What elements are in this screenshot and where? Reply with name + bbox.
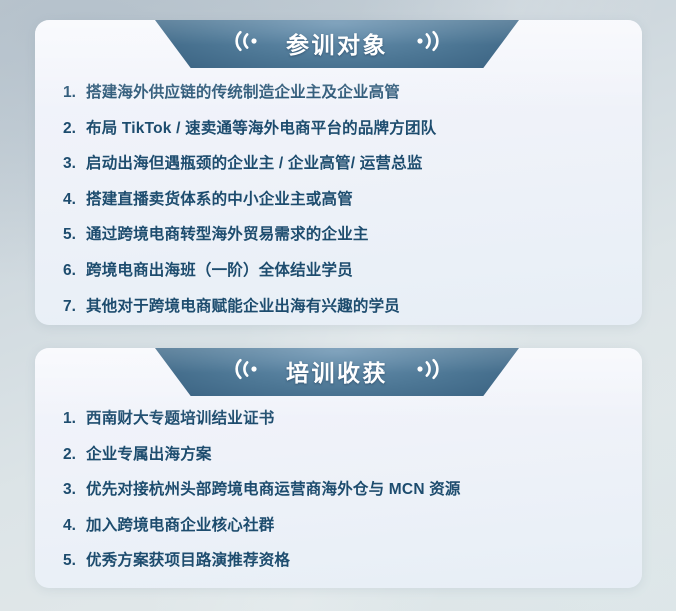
list-item-number: 1. (63, 84, 84, 103)
banner-participants: 参训对象 (35, 20, 642, 68)
card-title: 培训收获 (286, 354, 388, 388)
list-item-text: 搭建海外供应链的传统制造企业主及企业高管 (86, 84, 400, 103)
list-item: 5. 通过跨境电商转型海外贸易需求的企业主 (63, 226, 620, 245)
list-item: 3. 启动出海但遇瓶颈的企业主 / 企业高管/ 运营总监 (63, 155, 620, 174)
list-item: 5. 优秀方案获项目路演推荐资格 (63, 552, 620, 571)
list-item: 3. 优先对接杭州头部跨境电商运营商海外仓与 MCN 资源 (63, 481, 620, 500)
card-participants: 参训对象 1. 搭建海外供应链的传统制造企业主及企业高管 2. (35, 20, 642, 325)
banner-outcomes: 培训收获 (35, 348, 642, 396)
sound-wave-right-icon (414, 358, 440, 385)
list-item: 4. 搭建直播卖货体系的中小企业主或高管 (63, 191, 620, 210)
list-item-text: 加入跨境电商企业核心社群 (86, 517, 274, 536)
list-item-number: 4. (63, 517, 84, 536)
sound-wave-left-icon (234, 358, 260, 385)
sound-wave-right-icon (414, 30, 440, 57)
list-item: 1. 搭建海外供应链的传统制造企业主及企业高管 (63, 84, 620, 103)
list-item-number: 1. (63, 410, 84, 429)
list-item-number: 5. (63, 552, 84, 571)
list-item-text: 跨境电商出海班（一阶）全体结业学员 (86, 262, 353, 281)
list-item-number: 2. (63, 120, 84, 139)
sound-wave-left-icon (234, 30, 260, 57)
list-item-text: 启动出海但遇瓶颈的企业主 / 企业高管/ 运营总监 (86, 155, 423, 174)
list-item-text: 搭建直播卖货体系的中小企业主或高管 (86, 191, 353, 210)
list-item-number: 3. (63, 155, 84, 174)
list-item-number: 5. (63, 226, 84, 245)
card-title: 参训对象 (286, 26, 388, 60)
list-item: 7. 其他对于跨境电商赋能企业出海有兴趣的学员 (63, 298, 620, 317)
list-item: 4. 加入跨境电商企业核心社群 (63, 517, 620, 536)
list-item-number: 6. (63, 262, 84, 281)
list-item-number: 2. (63, 446, 84, 465)
banner-shape: 培训收获 (155, 348, 519, 396)
list-item-text: 其他对于跨境电商赋能企业出海有兴趣的学员 (86, 298, 400, 317)
list-item-text: 通过跨境电商转型海外贸易需求的企业主 (86, 226, 369, 245)
banner-shape: 参训对象 (155, 20, 519, 68)
list-item: 2. 布局 TikTok / 速卖通等海外电商平台的品牌方团队 (63, 120, 620, 139)
outcomes-list: 1. 西南财大专题培训结业证书 2. 企业专属出海方案 3. 优先对接杭州头部跨… (63, 410, 620, 588)
list-item-text: 西南财大专题培训结业证书 (86, 410, 274, 429)
list-item-text: 优先对接杭州头部跨境电商运营商海外仓与 MCN 资源 (86, 481, 461, 500)
list-item-number: 3. (63, 481, 84, 500)
list-item: 2. 企业专属出海方案 (63, 446, 620, 465)
list-item-text: 布局 TikTok / 速卖通等海外电商平台的品牌方团队 (86, 120, 436, 139)
participants-list: 1. 搭建海外供应链的传统制造企业主及企业高管 2. 布局 TikTok / 速… (63, 84, 620, 333)
list-item-number: 4. (63, 191, 84, 210)
list-item-text: 企业专属出海方案 (86, 446, 212, 465)
list-item: 6. 跨境电商出海班（一阶）全体结业学员 (63, 262, 620, 281)
list-item-text: 优秀方案获项目路演推荐资格 (86, 552, 290, 571)
page-root: 参训对象 1. 搭建海外供应链的传统制造企业主及企业高管 2. (0, 0, 676, 611)
list-item: 1. 西南财大专题培训结业证书 (63, 410, 620, 429)
card-outcomes: 培训收获 1. 西南财大专题培训结业证书 2. 企业专 (35, 348, 642, 588)
list-item-number: 7. (63, 298, 84, 317)
